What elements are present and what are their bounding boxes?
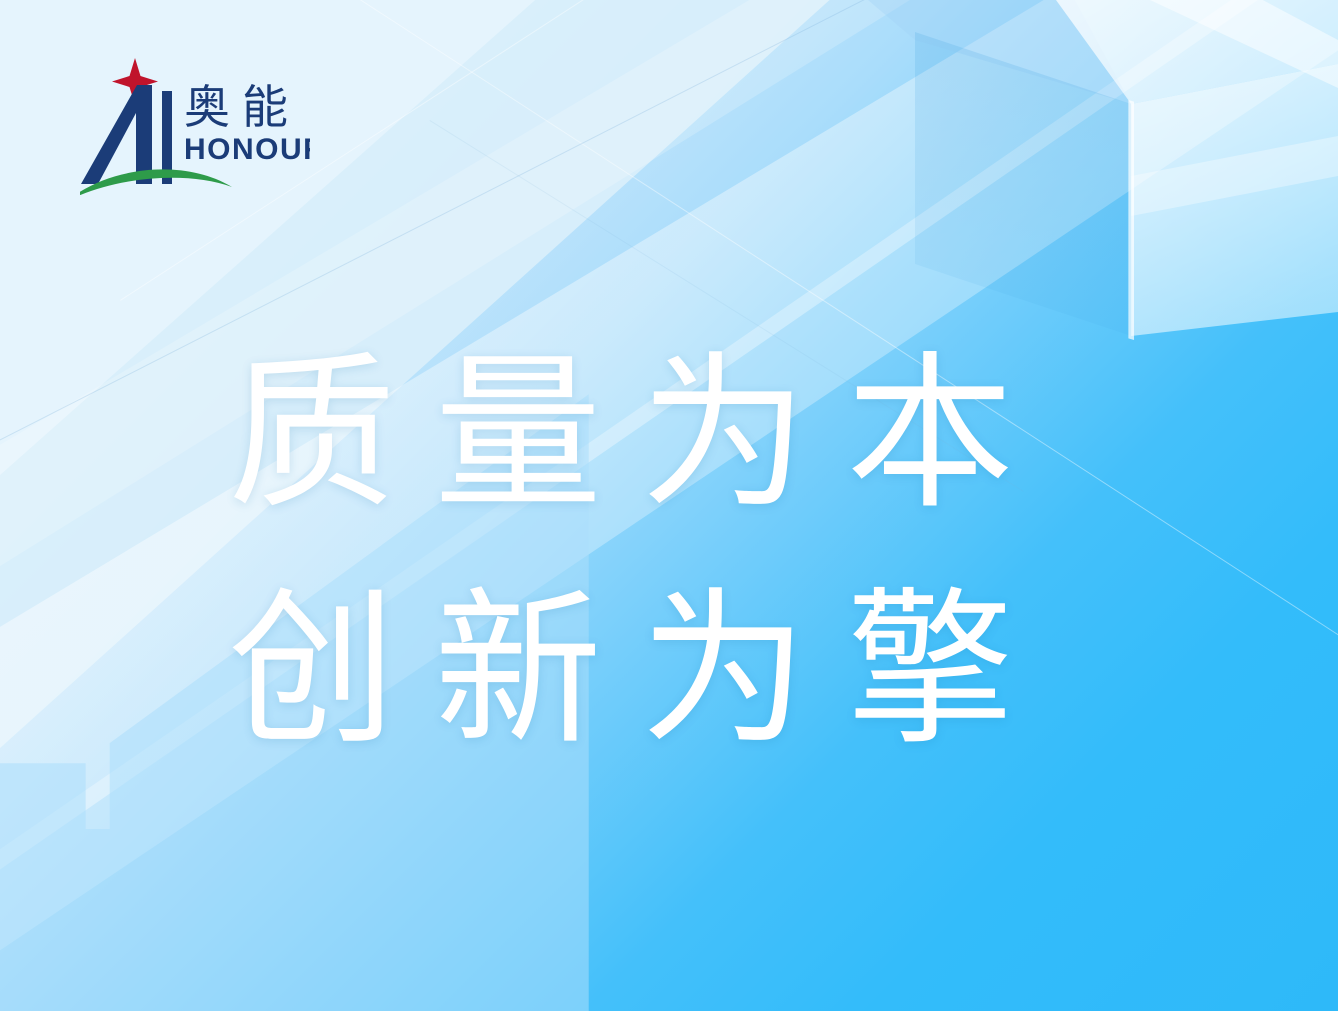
headline-block: 质量为本 创新为擎 bbox=[228, 316, 1148, 788]
promo-banner: 奥能 HONOUR 质量为本 创新为擎 bbox=[0, 0, 1338, 1011]
mountain-a-mark-icon bbox=[81, 85, 172, 184]
brand-logo[interactable]: 奥能 HONOUR bbox=[80, 55, 310, 195]
brand-name-en: HONOUR bbox=[184, 133, 310, 166]
headline-line-1: 质量为本 bbox=[228, 316, 1148, 552]
headline-line-2: 创新为擎 bbox=[228, 552, 1148, 788]
brand-name-cn: 奥能 bbox=[184, 80, 300, 134]
